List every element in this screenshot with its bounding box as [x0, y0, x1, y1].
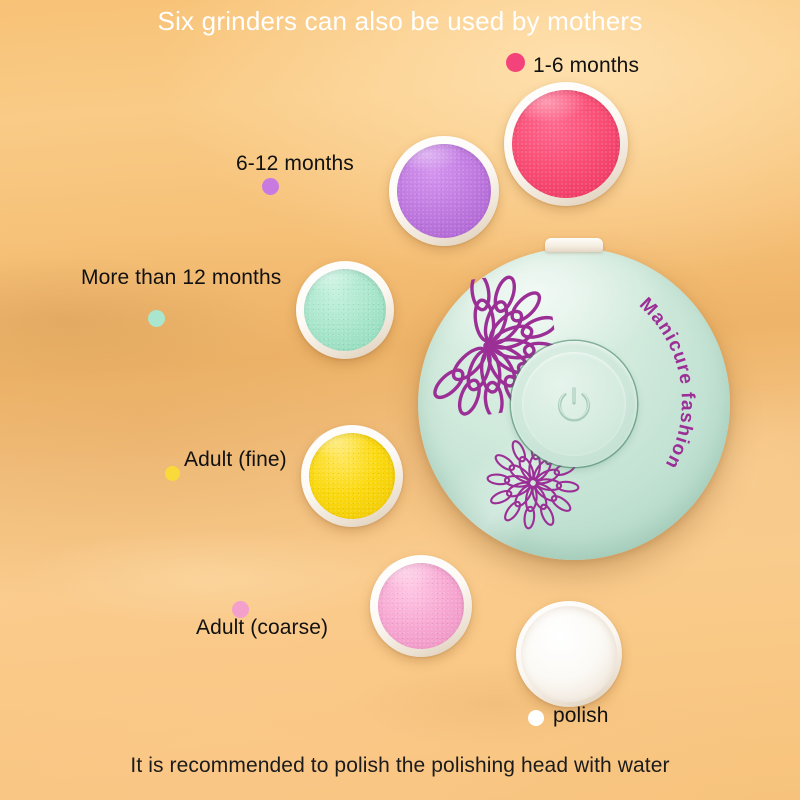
grinder-disc-adult-coarse[interactable] [370, 555, 472, 657]
legend-label-adult-coarse: Adult (coarse) [196, 616, 328, 640]
footer-caption: It is recommended to polish the polishin… [0, 754, 800, 778]
page-title: Six grinders can also be used by mothers [0, 6, 800, 37]
power-button[interactable] [511, 341, 637, 467]
legend-dot-more-than-12-months [148, 310, 165, 327]
legend-dot-6-12-months [262, 178, 279, 195]
grinder-disc-adult-fine[interactable] [301, 425, 403, 527]
legend-label-6-12-months: 6-12 months [236, 152, 354, 176]
grinder-disc-6-12-months[interactable] [389, 136, 499, 246]
grinder-disc-polish[interactable] [516, 601, 622, 707]
disc-pad [397, 144, 491, 238]
grinder-disc-1-6-months[interactable] [504, 82, 628, 206]
legend-dot-adult-fine [165, 466, 180, 481]
disc-pad [512, 90, 620, 198]
legend-label-more-than-12-months: More than 12 months [81, 266, 281, 290]
manicure-device[interactable]: Manicure fashion [418, 248, 730, 560]
legend-label-adult-fine: Adult (fine) [184, 448, 287, 472]
legend-dot-1-6-months [506, 53, 525, 72]
disc-pad [521, 606, 617, 702]
disc-pad [304, 269, 386, 351]
grinder-disc-more-than-12-months[interactable] [296, 261, 394, 359]
legend-label-polish: polish [553, 704, 608, 728]
device-lid-tab [545, 238, 603, 252]
product-image-canvas: Six grinders can also be used by mothers [0, 0, 800, 800]
legend-dot-polish [528, 710, 544, 726]
legend-label-1-6-months: 1-6 months [533, 54, 639, 78]
disc-pad [378, 563, 464, 649]
power-icon [551, 381, 597, 427]
disc-pad [309, 433, 395, 519]
